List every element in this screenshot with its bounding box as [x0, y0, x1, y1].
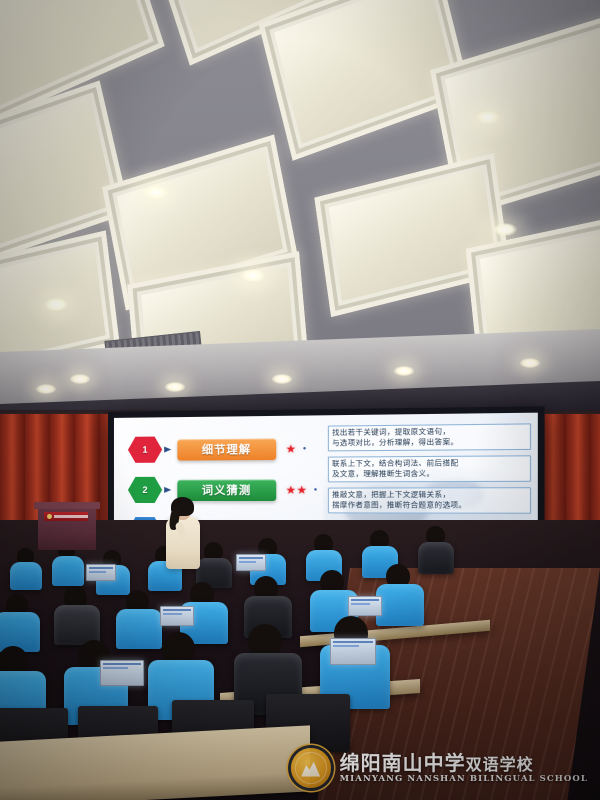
- slide-text-blocks: 找出若干关键词，提取原文语句， 与选项对比，分析理解，得出答案。 联系上下文，结…: [328, 423, 531, 519]
- hex-badge-1: 1: [128, 436, 162, 462]
- lectern-sign: [44, 512, 88, 521]
- student-laptop[interactable]: [160, 606, 194, 626]
- student-uniform: [0, 612, 40, 652]
- ceiling-downlight: [36, 384, 56, 394]
- laptop-text-line: [103, 667, 128, 669]
- watermark: 绵阳南山中学双语学校 MIANYANG NANSHAN BILINGUAL SC…: [291, 748, 588, 788]
- student-uniform: [376, 584, 424, 626]
- student-laptop[interactable]: [100, 660, 144, 686]
- ceiling-downlight: [165, 382, 185, 392]
- laptop-text-line: [239, 557, 263, 559]
- ceiling-downlight: [43, 297, 69, 312]
- ceiling-downlight: [240, 268, 266, 283]
- student-laptop[interactable]: [236, 554, 266, 571]
- laptop-text-line: [89, 567, 113, 569]
- photo-scene: 1 细节理解 ★ • 2 词义猜测 ★★ •: [0, 0, 600, 800]
- student-uniform: [54, 605, 100, 645]
- watermark-chinese-main: 绵阳南山中学: [340, 751, 466, 775]
- laptop-text-line: [333, 645, 359, 647]
- student-uniform: [418, 542, 454, 574]
- hex-badge-2: 2: [128, 477, 162, 503]
- bullet-icon: •: [314, 484, 317, 494]
- laptop-text-line: [103, 663, 141, 665]
- student-uniform: [10, 562, 42, 590]
- crest-mountain-icon: [301, 760, 320, 777]
- row-number-badge: 2: [128, 477, 162, 503]
- slide-text-line: 推敲文意，把握上下文逻辑关系，: [332, 490, 526, 500]
- slide-text-box-1: 找出若干关键词，提取原文语句， 与选项对比，分析理解，得出答案。: [328, 423, 531, 451]
- arrow-connector-icon: [164, 488, 176, 491]
- skill-bar-2: 词义猜测: [177, 479, 276, 501]
- slide-text-line: 及文意，理解推断生词含义。: [332, 469, 526, 480]
- ceiling-downlight: [143, 185, 169, 200]
- laptop-text-line: [239, 561, 256, 563]
- lectern-top: [34, 502, 100, 509]
- arrow-connector-icon: [164, 448, 176, 451]
- slide-text-box-3: 推敲文意，把握上下文逻辑关系， 揣摩作者意图，推断符合题意的选项。: [328, 487, 531, 514]
- watermark-chinese: 绵阳南山中学双语学校: [340, 753, 588, 773]
- laptop-text-line: [333, 641, 373, 643]
- school-crest-icon: [291, 748, 331, 788]
- ceiling-downlight: [70, 374, 90, 384]
- student-laptop[interactable]: [86, 564, 116, 581]
- slide-text-line: 与选项对比，分析理解，得出答案。: [332, 437, 526, 449]
- star-rating-1: ★: [286, 442, 297, 455]
- teacher-figure: [162, 500, 206, 574]
- star-rating-2: ★★: [286, 483, 308, 496]
- student-laptop[interactable]: [330, 638, 376, 665]
- laptop-text-line: [351, 603, 370, 605]
- laptop-text-line: [163, 613, 182, 615]
- ceiling-downlight: [492, 222, 518, 237]
- lectern-sign-text: [54, 515, 88, 518]
- laptop-text-line: [351, 599, 379, 601]
- skill-bar-1: 细节理解: [177, 438, 276, 460]
- ceiling-downlight: [475, 110, 501, 125]
- laptop-text-line: [163, 609, 191, 611]
- ceiling-downlight: [272, 374, 292, 384]
- watermark-text: 绵阳南山中学双语学校 MIANYANG NANSHAN BILINGUAL SC…: [340, 753, 588, 784]
- student-laptop[interactable]: [348, 596, 382, 616]
- student-uniform: [116, 609, 162, 649]
- slide-text-box-2: 联系上下文，结合构词法、前后搭配 及文意，理解推断生词含义。: [328, 455, 531, 482]
- ceiling-downlight: [394, 366, 414, 376]
- ceiling-downlight: [520, 358, 540, 368]
- slide-text-line: 揣摩作者意图，推断符合题意的选项。: [332, 500, 526, 510]
- bullet-icon: •: [303, 443, 306, 453]
- watermark-chinese-sub: 双语学校: [466, 755, 534, 774]
- watermark-english: MIANYANG NANSHAN BILINGUAL SCHOOL: [340, 774, 588, 784]
- student-uniform: [52, 556, 84, 586]
- row-number-badge: 1: [128, 436, 162, 462]
- lectern: [38, 506, 96, 550]
- laptop-text-line: [89, 571, 106, 573]
- lectern-sign-emblem-icon: [47, 514, 52, 519]
